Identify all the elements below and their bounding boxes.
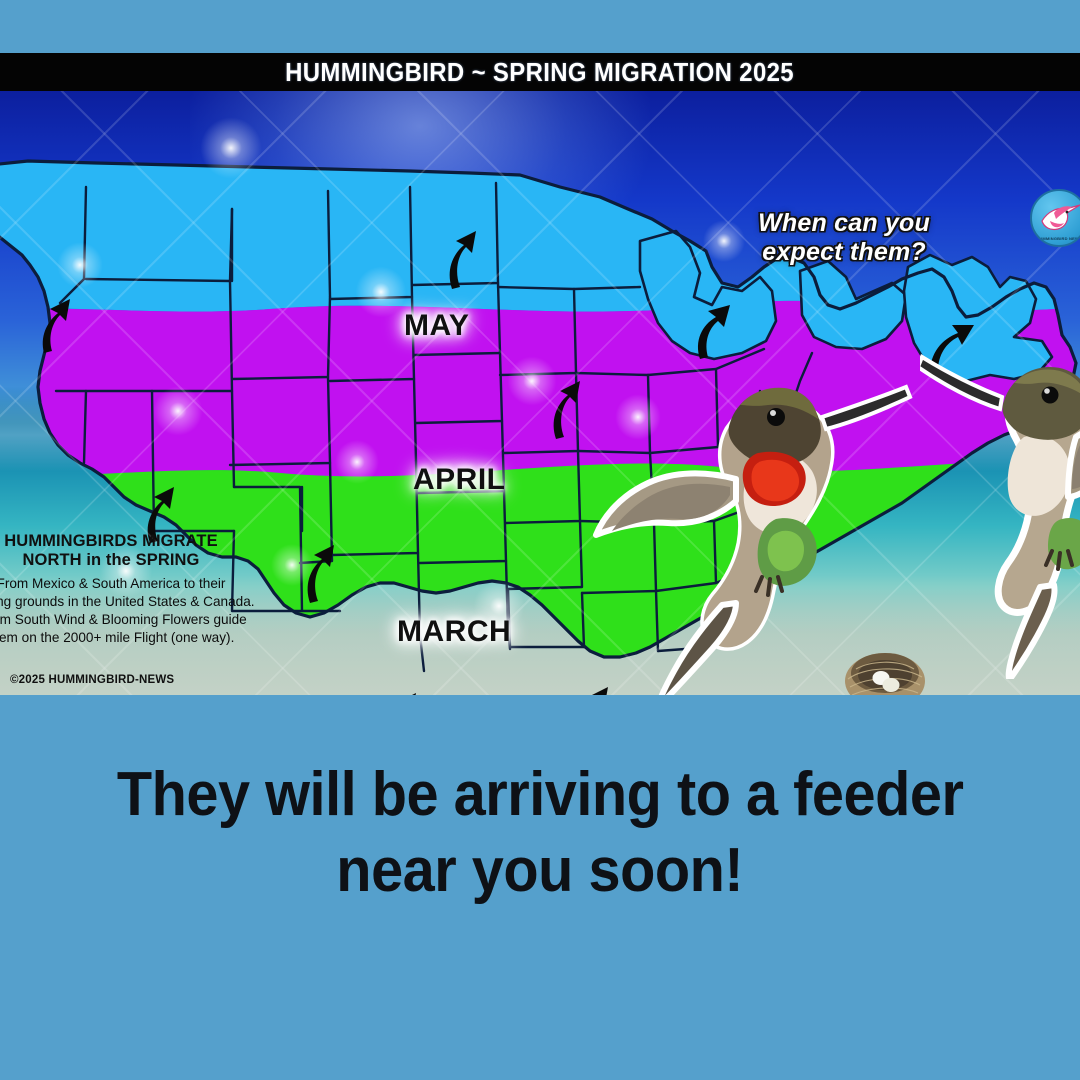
migration-caption: HUMMINGBIRDS MIGRATE NORTH in the SPRING… bbox=[0, 532, 256, 647]
migration-infographic: HUMMINGBIRD ~ SPRING MIGRATION 2025 bbox=[0, 53, 1080, 695]
top-spacer bbox=[0, 0, 1080, 53]
caption-heading-1: HUMMINGBIRDS MIGRATE bbox=[0, 532, 256, 551]
caption-body-1: From Mexico & South America to their bbox=[0, 575, 256, 593]
caption-heading-2: NORTH in the SPRING bbox=[0, 551, 256, 570]
post-caption-line-1: They will be arriving to a feeder bbox=[117, 757, 964, 833]
caption-body-2: nesting grounds in the United States & C… bbox=[0, 593, 256, 611]
zone-label-may: MAY bbox=[404, 309, 469, 343]
hummingbird-logo-icon bbox=[1036, 201, 1080, 235]
hummingbird-news-logo[interactable]: HUMMINGBIRD NEWS bbox=[1030, 189, 1080, 247]
question-headline: When can you expect them? bbox=[758, 209, 930, 266]
logo-caption: HUMMINGBIRD NEWS bbox=[1032, 236, 1080, 241]
caption-body-4: them on the 2000+ mile Flight (one way). bbox=[0, 629, 256, 647]
question-line-2: expect them? bbox=[758, 238, 930, 267]
post-caption-line-2: near you soon! bbox=[337, 833, 744, 909]
copyright-notice: ©2025 HUMMINGBIRD-NEWS bbox=[10, 674, 174, 686]
infographic-header: HUMMINGBIRD ~ SPRING MIGRATION 2025 bbox=[0, 53, 1080, 91]
question-line-1: When can you bbox=[758, 209, 930, 238]
zone-label-april: APRIL bbox=[413, 463, 506, 497]
zone-label-march: MARCH bbox=[397, 615, 511, 649]
infographic-title: HUMMINGBIRD ~ SPRING MIGRATION 2025 bbox=[286, 57, 795, 88]
male-ruby-throated-hummingbird bbox=[590, 305, 920, 695]
female-hummingbird bbox=[920, 319, 1080, 679]
caption-body-3: Warm South Wind & Blooming Flowers guide bbox=[0, 611, 256, 629]
map-scene: MAY APRIL MARCH When can you expect them… bbox=[0, 91, 1080, 695]
social-post: HUMMINGBIRD ~ SPRING MIGRATION 2025 bbox=[0, 0, 1080, 1080]
post-caption: They will be arriving to a feeder near y… bbox=[0, 695, 1080, 1080]
